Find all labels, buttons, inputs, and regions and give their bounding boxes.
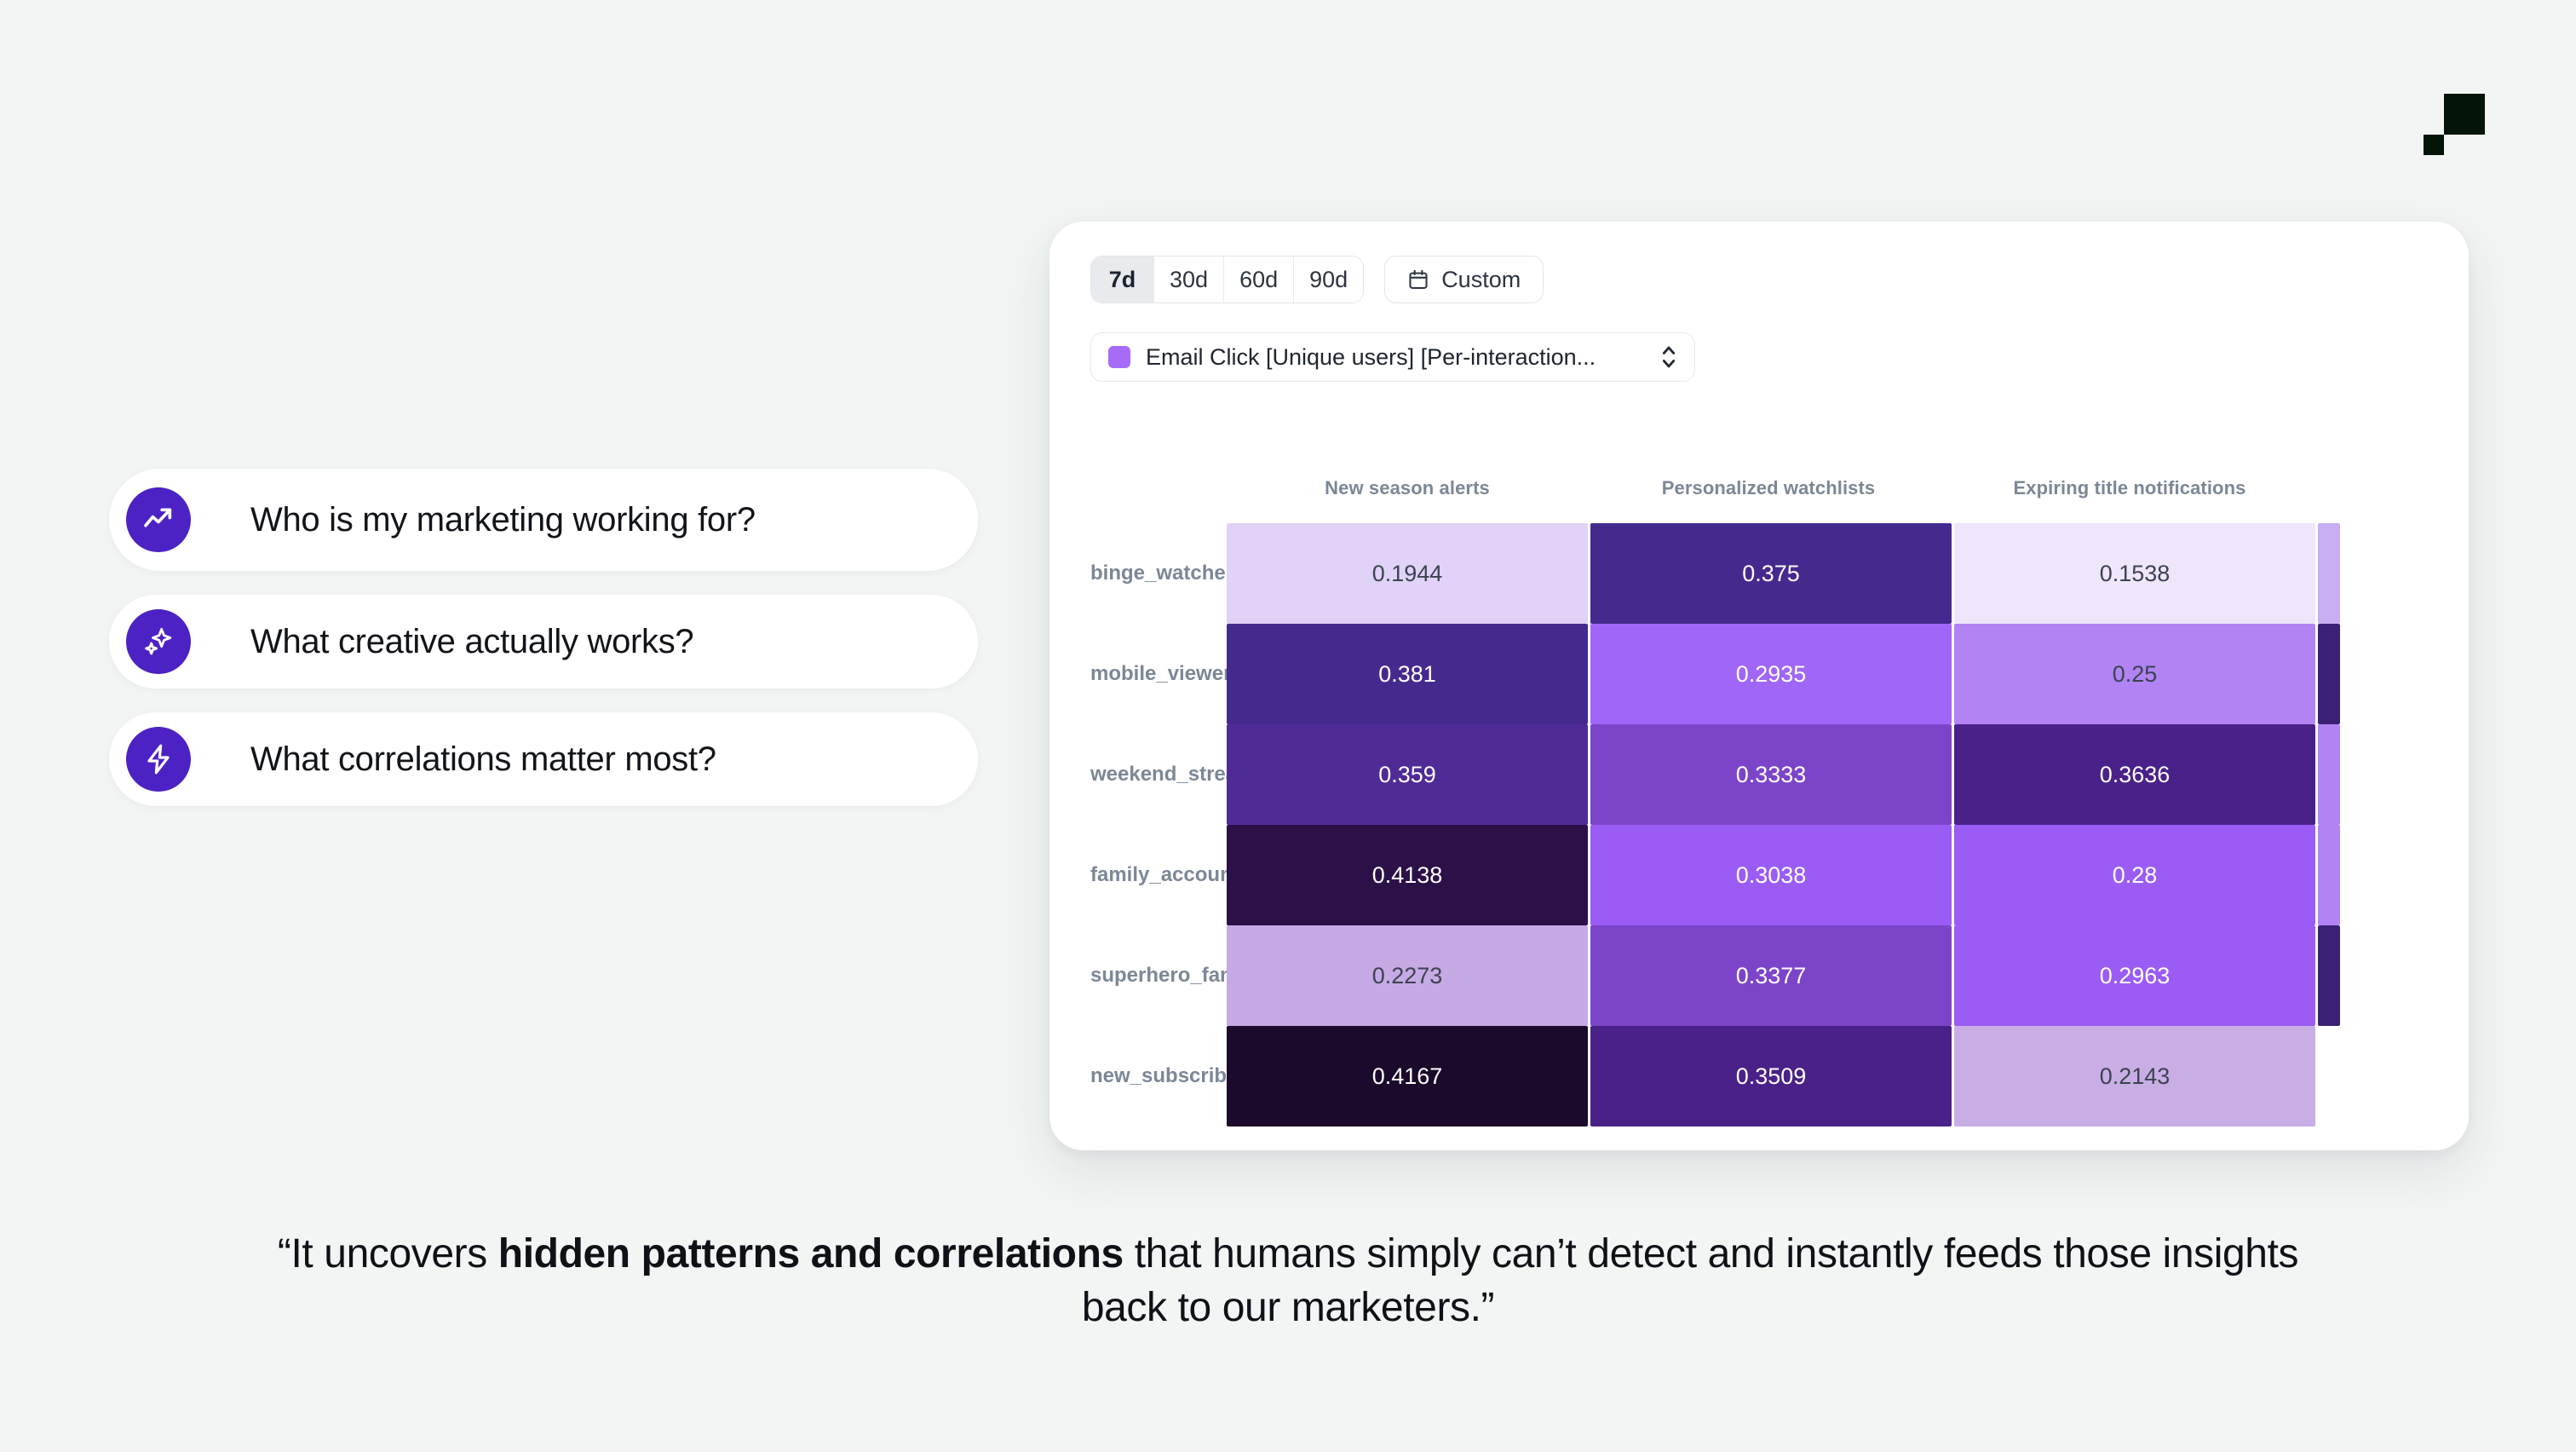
heatmap-cell[interactable]: 0.375 [1590,523,1952,624]
heatmap-cell-value: 0.4167 [1372,1063,1443,1090]
range-button-90d[interactable]: 90d [1294,256,1363,302]
heatmap-cell[interactable] [2318,925,2340,1026]
heatmap-cell[interactable]: 0.25 [1954,624,2315,724]
heatmap-row: mobile_viewers0.3810.29350.25 [1090,624,2469,724]
heatmap-row: family_accounts0.41380.30380.28 [1090,825,2469,925]
heatmap-cell[interactable] [2318,624,2340,724]
heatmap-cell[interactable]: 0.4167 [1227,1026,1588,1126]
metric-select[interactable]: Email Click [Unique users] [Per-interact… [1090,332,1695,382]
heatmap-row: weekend_streamers0.3590.33330.3636 [1090,724,2469,825]
heatmap-row-label: new_subscribers [1090,1026,1227,1126]
heatmap-cell[interactable]: 0.28 [1954,825,2315,925]
metric-color-swatch [1108,346,1130,368]
heatmap-column-headers: New season alerts Personalized watchlist… [1049,477,2469,499]
heatmap-cell-value: 0.3509 [1736,1063,1807,1090]
custom-range-button[interactable]: Custom [1384,256,1544,303]
heatmap-cell[interactable]: 0.2273 [1227,925,1588,1026]
heatmap-cell[interactable]: 0.381 [1227,624,1588,724]
heatmap-row-label: superhero_fans [1090,925,1227,1026]
heatmap-cell[interactable]: 0.3377 [1590,925,1952,1026]
heatmap-row-label: family_accounts [1090,825,1227,925]
brand-logo [2424,94,2485,155]
heatmap-row-cells: 0.22730.33770.2963 [1227,925,2469,1026]
heatmap-row-label: mobile_viewers [1090,624,1227,724]
heatmap-cell-value: 0.28 [2113,862,2158,889]
heatmap-cell-value: 0.1944 [1372,561,1443,587]
heatmap-row-label: weekend_streamers [1090,724,1227,825]
custom-range-label: Custom [1441,267,1521,293]
metric-select-value: Email Click [Unique users] [Per-interact… [1146,344,1643,371]
column-header-0: New season alerts [1227,477,1588,499]
lightning-bolt-icon [126,727,191,792]
range-button-60d[interactable]: 60d [1224,256,1294,302]
question-card-2[interactable]: What creative actually works? [109,595,978,689]
logo-square-small [2424,135,2444,155]
heatmap-cell-value: 0.3038 [1736,862,1807,889]
dashboard-toolbar: 7d 30d 60d 90d Custom [1049,222,2469,303]
question-card-1[interactable]: Who is my marketing working for? [109,469,978,571]
heatmap-row-cells: 0.3590.33330.3636 [1227,724,2469,825]
range-button-7d[interactable]: 7d [1091,256,1154,302]
range-button-30d[interactable]: 30d [1154,256,1224,302]
heatmap-cell-value: 0.25 [2113,661,2158,688]
heatmap: New season alerts Personalized watchlist… [1049,477,2469,1126]
question-card-list: Who is my marketing working for? What cr… [109,469,978,830]
column-header-2: Expiring title notifications [1949,477,2310,499]
date-range-segmented-control[interactable]: 7d 30d 60d 90d [1090,256,1364,303]
heatmap-cell[interactable]: 0.3509 [1590,1026,1952,1126]
quote-rest: that humans simply can’t detect and inst… [1082,1231,2298,1330]
quote-emphasis: hidden patterns and correlations [498,1231,1124,1276]
question-label-2: What creative actually works? [250,621,693,662]
heatmap-cell-value: 0.2963 [2100,963,2171,989]
heatmap-cell-value: 0.3333 [1736,762,1807,788]
question-card-3[interactable]: What correlations matter most? [109,712,978,806]
heatmap-row-label: binge_watchers [1090,523,1227,624]
trending-up-icon [126,487,191,552]
pull-quote: “It uncovers hidden patterns and correla… [0,1227,2576,1335]
heatmap-body: binge_watchers0.19440.3750.1538mobile_vi… [1049,523,2469,1126]
column-header-1: Personalized watchlists [1588,477,1949,499]
dashboard-card: 7d 30d 60d 90d Custom Email Click [Uniqu… [1049,222,2469,1150]
heatmap-cell[interactable]: 0.1944 [1227,523,1588,624]
heatmap-row: superhero_fans0.22730.33770.2963 [1090,925,2469,1026]
heatmap-cell[interactable] [2318,825,2340,925]
heatmap-cell-value: 0.1538 [2100,561,2171,587]
heatmap-cell-value: 0.3636 [2100,762,2171,788]
question-label-1: Who is my marketing working for? [250,499,756,540]
heatmap-cell-value: 0.4138 [1372,862,1443,889]
quote-open: “It uncovers [278,1231,498,1276]
heatmap-row-cells: 0.19440.3750.1538 [1227,523,2469,624]
heatmap-corner-spacer [1090,477,1227,499]
heatmap-row-cells: 0.3810.29350.25 [1227,624,2469,724]
heatmap-row-cells: 0.41380.30380.28 [1227,825,2469,925]
heatmap-cell-value: 0.2935 [1736,661,1807,688]
heatmap-cell[interactable] [2318,724,2340,825]
heatmap-cell[interactable]: 0.359 [1227,724,1588,825]
heatmap-row-cells: 0.41670.35090.2143 [1227,1026,2469,1126]
question-label-3: What correlations matter most? [250,739,716,780]
chevron-up-down-icon[interactable] [1659,343,1679,372]
heatmap-cell[interactable]: 0.1538 [1954,523,2315,624]
heatmap-cell[interactable]: 0.2143 [1954,1026,2315,1126]
heatmap-cell[interactable]: 0.3333 [1590,724,1952,825]
heatmap-cell[interactable]: 0.2935 [1590,624,1952,724]
heatmap-cell-value: 0.2273 [1372,963,1443,989]
heatmap-cell-value: 0.359 [1378,762,1436,788]
heatmap-row: binge_watchers0.19440.3750.1538 [1090,523,2469,624]
heatmap-cell-value: 0.3377 [1736,963,1807,989]
heatmap-cell[interactable]: 0.3038 [1590,825,1952,925]
heatmap-cell[interactable] [2318,1026,2340,1126]
heatmap-row: new_subscribers0.41670.35090.2143 [1090,1026,2469,1126]
heatmap-cell-value: 0.375 [1742,561,1800,587]
heatmap-cell-value: 0.2143 [2100,1063,2171,1090]
heatmap-cell[interactable]: 0.2963 [1954,925,2315,1026]
heatmap-cell[interactable] [2318,523,2340,624]
heatmap-cell[interactable]: 0.3636 [1954,724,2315,825]
sparkles-icon [126,609,191,674]
logo-square-large [2444,94,2485,135]
calendar-icon [1407,268,1429,291]
heatmap-cell-value: 0.381 [1378,661,1436,688]
heatmap-cell[interactable]: 0.4138 [1227,825,1588,925]
